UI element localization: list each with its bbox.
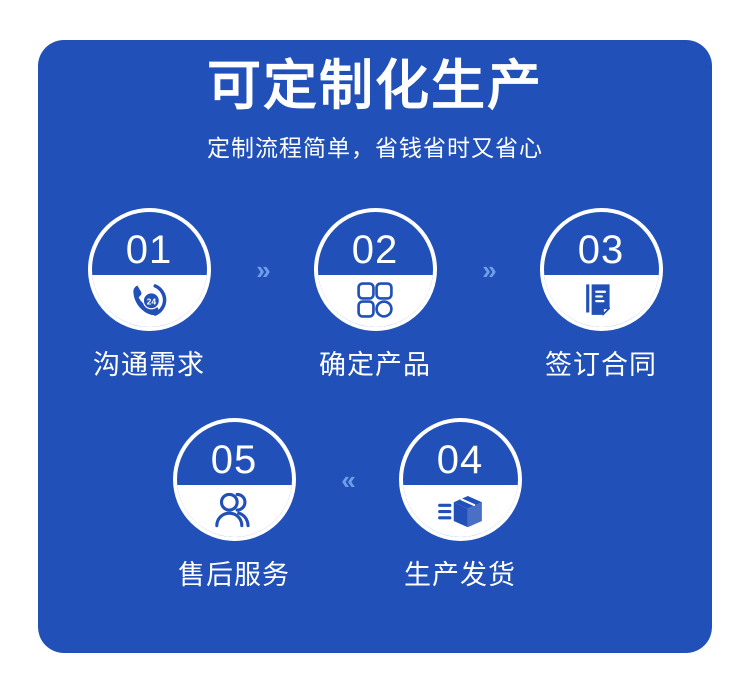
step-05-badge: 05 bbox=[173, 418, 296, 541]
step-05-label: 售后服务 bbox=[178, 561, 290, 591]
shipping-box-icon bbox=[403, 485, 518, 537]
svg-text:24: 24 bbox=[147, 296, 157, 306]
step-04[interactable]: 04 生产发货 bbox=[375, 418, 545, 591]
process-panel: 可定制化生产 定制流程简单，省钱省时又省心 01 24 沟通需求 bbox=[38, 40, 712, 653]
process-row-2: 05 售后服务 « 04 bbox=[38, 418, 712, 591]
step-04-number: 04 bbox=[403, 428, 518, 491]
arrow-separator-3: « bbox=[319, 418, 375, 541]
page-title: 可定制化生产 bbox=[38, 58, 712, 115]
step-01[interactable]: 01 24 沟通需求 bbox=[64, 208, 234, 381]
step-05-number: 05 bbox=[177, 428, 292, 491]
step-02[interactable]: 02 确定产品 bbox=[290, 208, 460, 381]
step-03-label: 签订合同 bbox=[545, 351, 657, 381]
grid-products-icon bbox=[318, 275, 433, 327]
step-04-label: 生产发货 bbox=[404, 561, 516, 591]
step-01-label: 沟通需求 bbox=[93, 351, 205, 381]
step-03-badge: 03 bbox=[540, 208, 663, 331]
step-05[interactable]: 05 售后服务 bbox=[149, 418, 319, 591]
arrow-separator-1: » bbox=[234, 208, 290, 331]
step-03-number: 03 bbox=[544, 218, 659, 281]
contract-document-icon bbox=[544, 275, 659, 327]
arrow-separator-2: » bbox=[460, 208, 516, 331]
step-01-badge: 01 24 bbox=[88, 208, 211, 331]
step-04-badge: 04 bbox=[399, 418, 522, 541]
row-2-spacer bbox=[545, 418, 601, 541]
step-01-number: 01 bbox=[92, 218, 207, 281]
page-subtitle: 定制流程简单，省钱省时又省心 bbox=[38, 135, 712, 163]
step-03[interactable]: 03 签订合同 bbox=[516, 208, 686, 381]
users-support-icon bbox=[177, 485, 292, 537]
process-row-1: 01 24 沟通需求 » 02 bbox=[38, 208, 712, 381]
step-02-label: 确定产品 bbox=[319, 351, 431, 381]
header-block: 可定制化生产 定制流程简单，省钱省时又省心 bbox=[38, 58, 712, 162]
phone-24h-support-icon: 24 bbox=[92, 275, 207, 327]
step-02-badge: 02 bbox=[314, 208, 437, 331]
step-02-number: 02 bbox=[318, 218, 433, 281]
